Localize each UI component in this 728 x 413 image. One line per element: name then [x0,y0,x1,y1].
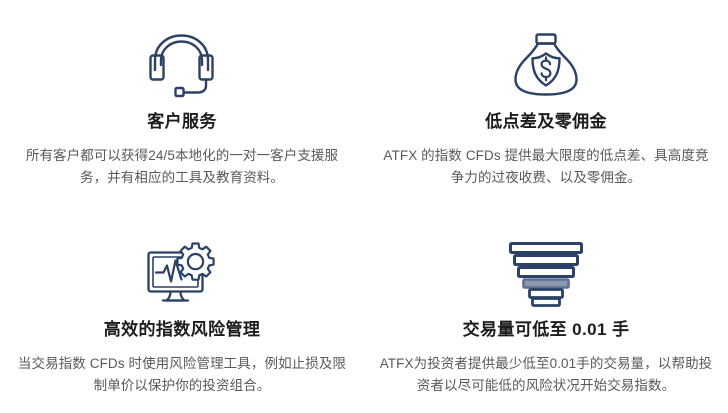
money-bag-shield-icon [500,26,592,104]
feature-title: 高效的指数风险管理 [104,319,261,341]
feature-title: 交易量可低至 0.01 手 [463,319,630,341]
feature-description: 当交易指数 CFDs 时使用风险管理工具，例如止损及限制单价以保护你的投资组合。 [14,353,350,397]
feature-card-customer-service: 客户服务 所有客户都可以获得24/5本地化的一对一客户支援服务，并有相应的工具及… [0,0,364,206]
monitor-chart-gear-icon [136,234,228,312]
feature-title: 客户服务 [147,111,217,133]
headset-icon [136,26,228,104]
funnel-bars-icon [500,234,592,312]
feature-card-low-spread: 低点差及零佣金 ATFX 的指数 CFDs 提供最大限度的低点差、具高度竞争力的… [364,0,728,206]
feature-description: 所有客户都可以获得24/5本地化的一对一客户支援服务，并有相应的工具及教育资料。 [17,145,347,189]
feature-title: 低点差及零佣金 [485,111,607,133]
feature-card-min-lot-size: 交易量可低至 0.01 手 ATFX为投资者提供最少低至0.01手的交易量，以帮… [364,206,728,413]
feature-description: ATFX 的指数 CFDs 提供最大限度的低点差、具高度竞争力的过夜收费、以及零… [381,145,711,189]
feature-description: ATFX为投资者提供最少低至0.01手的交易量，以帮助投资者以尽可能低的风险状况… [378,353,714,397]
feature-card-risk-management: 高效的指数风险管理 当交易指数 CFDs 时使用风险管理工具，例如止损及限制单价… [0,206,364,413]
features-grid: 客户服务 所有客户都可以获得24/5本地化的一对一客户支援服务，并有相应的工具及… [0,0,728,413]
